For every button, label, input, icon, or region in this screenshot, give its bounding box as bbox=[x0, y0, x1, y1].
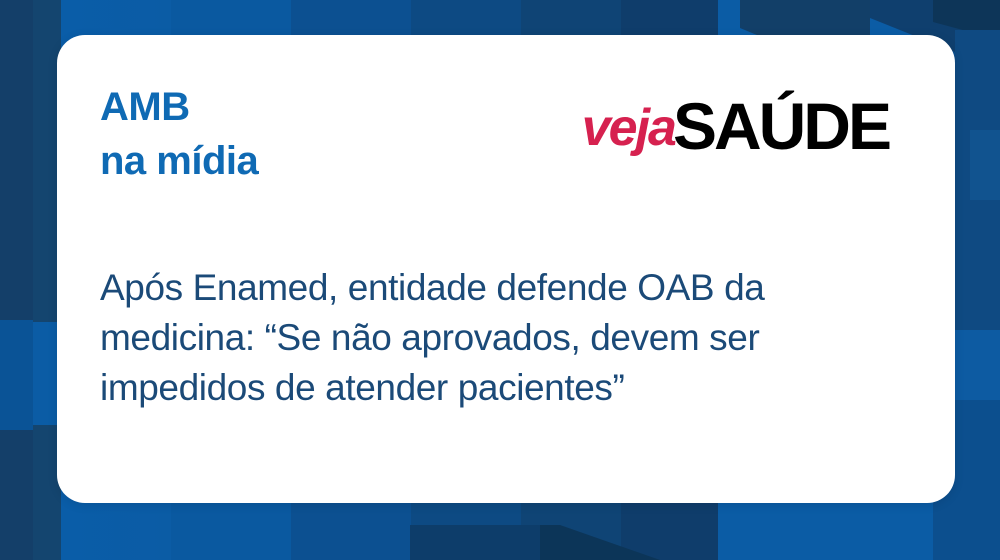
promo-card-screenshot: AMB na mídia veja SAÚDE Após Enamed, ent… bbox=[0, 0, 1000, 560]
logo-word-veja: veja bbox=[582, 102, 675, 154]
content-card: AMB na mídia veja SAÚDE Após Enamed, ent… bbox=[57, 35, 955, 503]
veja-saude-logo: veja SAÚDE bbox=[582, 93, 889, 159]
headline-text: Após Enamed, entidade defende OAB da med… bbox=[100, 263, 900, 413]
logo-word-saude: SAÚDE bbox=[673, 93, 889, 159]
page-title: AMB na mídia bbox=[100, 80, 258, 188]
